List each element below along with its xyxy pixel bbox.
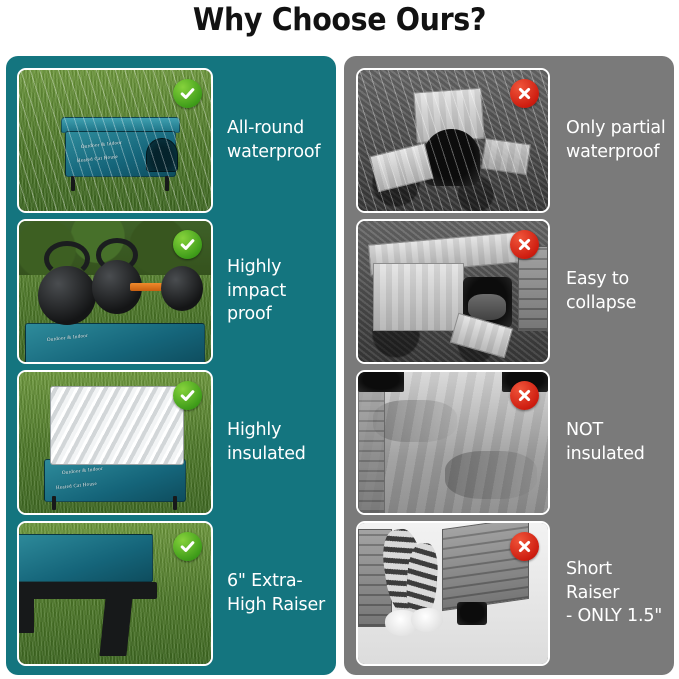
con-label-raiser: Short Raiser - ONLY 1.5": [550, 558, 674, 628]
brand-line-1: Outdoor & Indoor: [47, 333, 88, 342]
con-label-raiser-line2: - ONLY 1.5": [566, 605, 666, 628]
con-rows: Only partial waterproof: [344, 56, 674, 675]
check-circle-icon: [173, 79, 202, 108]
pro-label-waterproof-line1: All-round: [227, 117, 328, 140]
pro-row-waterproof: Outdoor & Indoor Heated Cat House All-ro…: [6, 68, 336, 213]
short-raiser-foot: [457, 602, 487, 625]
x-circle-icon: [510, 381, 539, 410]
con-label-insulated: NOT insulated: [550, 419, 674, 466]
con-label-collapse-line2: collapse: [566, 292, 666, 315]
foil-insulation-panel: [50, 386, 184, 465]
con-label-waterproof-line1: Only partial: [566, 117, 666, 140]
con-row-insulated: NOT insulated: [344, 370, 674, 515]
con-photo-waterproof: [356, 68, 550, 213]
pro-label-impact: Highly impact proof: [213, 256, 336, 326]
pro-label-impact-line2: impact proof: [227, 280, 328, 327]
raiser-rail: [19, 582, 157, 599]
con-label-waterproof-line2: waterproof: [566, 141, 666, 164]
pro-label-insulated: Highly insulated: [213, 419, 336, 466]
infographic-page: Why Choose Ours? Outdoor & Indoor Heated…: [0, 0, 679, 679]
con-label-collapse: Easy to collapse: [550, 268, 674, 315]
pro-label-raiser-line1: 6" Extra-: [227, 570, 328, 593]
brand-line-2: Heated Cat House: [56, 482, 97, 491]
con-label-raiser-line1: Short Raiser: [566, 558, 666, 605]
pro-label-impact-line1: Highly: [227, 256, 328, 279]
pro-label-raiser-line2: High Raiser: [227, 594, 328, 617]
con-label-insulated-line2: insulated: [566, 443, 666, 466]
scuff-mark-right: [445, 451, 536, 499]
pro-photo-raiser: [17, 521, 213, 666]
pro-label-waterproof-line2: waterproof: [227, 141, 328, 164]
pro-row-impact: Outdoor & Indoor Highly i: [6, 219, 336, 364]
house-body: Outdoor & Indoor: [25, 323, 205, 362]
house-body-lower-edge: [19, 534, 153, 582]
pro-rows: Outdoor & Indoor Heated Cat House All-ro…: [6, 56, 336, 675]
dog-inside: [468, 294, 506, 319]
kettlebell-handle-right: [96, 238, 138, 272]
interior-side-wall: [358, 372, 385, 513]
page-title: Why Choose Ours?: [27, 2, 652, 38]
pro-label-insulated-line1: Highly: [227, 419, 328, 442]
con-label-collapse-line1: Easy to: [566, 268, 666, 291]
check-circle-icon: [173, 532, 202, 561]
pro-photo-insulated: Outdoor & Indoor Heated Cat House: [17, 370, 213, 515]
x-circle-icon: [510, 230, 539, 259]
con-photo-raiser: [356, 521, 550, 666]
con-photo-insulated: [356, 370, 550, 515]
pro-row-raiser: 6" Extra- High Raiser: [6, 521, 336, 666]
cat-paw-right: [411, 608, 443, 632]
con-row-waterproof: Only partial waterproof: [344, 68, 674, 213]
con-label-waterproof: Only partial waterproof: [550, 117, 674, 164]
pro-label-waterproof: All-round waterproof: [213, 117, 336, 164]
x-circle-icon: [510, 532, 539, 561]
x-circle-icon: [510, 79, 539, 108]
kettlebell-handle-left: [44, 241, 90, 278]
crate-behind: [518, 246, 548, 331]
pro-row-insulated: Outdoor & Indoor Heated Cat House Highly…: [6, 370, 336, 515]
house-leg-left: [52, 496, 56, 510]
shelter-side-wall: [373, 263, 464, 331]
scuff-mark-left: [373, 400, 457, 442]
house-leg-right: [173, 496, 177, 510]
brand-line-1: Outdoor & Indoor: [62, 467, 103, 476]
con-photo-collapse: [356, 219, 550, 364]
house-body: Outdoor & Indoor Heated Cat House: [44, 459, 186, 501]
pro-label-raiser: 6" Extra- High Raiser: [213, 570, 336, 617]
pro-label-insulated-line2: insulated: [227, 443, 328, 466]
con-row-raiser: Short Raiser - ONLY 1.5": [344, 521, 674, 666]
pro-photo-waterproof: Outdoor & Indoor Heated Cat House: [17, 68, 213, 213]
check-circle-icon: [173, 230, 202, 259]
check-circle-icon: [173, 381, 202, 410]
con-row-collapse: Easy to collapse: [344, 219, 674, 364]
pro-photo-impact: Outdoor & Indoor: [17, 219, 213, 364]
con-label-insulated-line1: NOT: [566, 419, 666, 442]
pro-column-panel: Outdoor & Indoor Heated Cat House All-ro…: [6, 56, 336, 675]
raiser-leg-left: [19, 594, 34, 633]
con-column-panel: Only partial waterproof: [344, 56, 674, 675]
shadow-corner-left: [358, 372, 404, 392]
